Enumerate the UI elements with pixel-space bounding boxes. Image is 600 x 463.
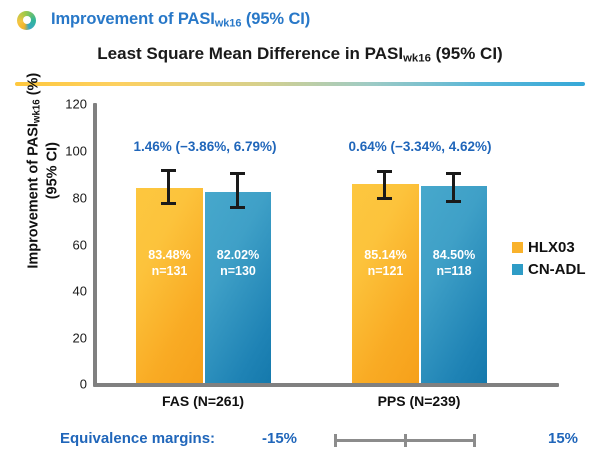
y-axis-label-line1: Improvement of PASIwk16 (%) — [24, 31, 43, 311]
chart-legend: HLX03 CN-ADL — [512, 236, 586, 280]
error-bar-cap-top-pps-cnadl — [446, 172, 461, 175]
bar-pps-hlx03[interactable]: 85.14% n=121 — [352, 184, 419, 383]
legend-swatch-hlx03 — [512, 242, 523, 253]
x-label-pps: PPS (N=239) — [339, 393, 499, 409]
y-tick-0: 0 — [49, 377, 87, 392]
bar-label-pps-cnadl: 84.50% n=118 — [421, 247, 487, 280]
equivalence-tick-center — [404, 434, 407, 447]
y-tick-20: 20 — [49, 331, 87, 346]
bar-label-pps-hlx03: 85.14% n=121 — [352, 247, 419, 280]
bar-pps-cnadl[interactable]: 84.50% n=118 — [421, 186, 487, 383]
error-bar-cap-top-pps-hlx03 — [377, 170, 392, 173]
error-bar-pps-hlx03 — [383, 170, 386, 200]
bar-fas-cnadl[interactable]: 82.02% n=130 — [205, 192, 271, 383]
annotation-pps: 0.64% (−3.34%, 4.62%) — [325, 139, 515, 154]
x-label-fas: FAS (N=261) — [123, 393, 283, 409]
y-axis-label-suffix: (%) — [25, 73, 41, 100]
bar-n-pps-hlx03: n=121 — [352, 263, 419, 279]
bar-chart: 120 100 80 60 40 20 0 Improvement of PAS… — [0, 0, 600, 463]
bar-value-fas-cnadl: 82.02% — [205, 247, 271, 263]
equivalence-margins-label: Equivalence margins: — [60, 430, 215, 447]
error-bar-fas-hlx03 — [167, 169, 170, 205]
y-axis-line — [93, 103, 97, 385]
bar-label-fas-cnadl: 82.02% n=130 — [205, 247, 271, 280]
error-bar-cap-bottom-fas-hlx03 — [161, 202, 176, 205]
bar-label-fas-hlx03: 83.48% n=131 — [136, 247, 203, 280]
y-axis-label-prefix: Improvement of PASI — [25, 123, 41, 269]
annotation-fas: 1.46% (−3.86%, 6.79%) — [110, 139, 300, 154]
equivalence-tick-left — [334, 434, 337, 447]
x-axis-line — [93, 383, 559, 387]
equivalence-tick-right — [473, 434, 476, 447]
error-bar-cap-bottom-pps-cnadl — [446, 200, 461, 203]
bar-value-pps-hlx03: 85.14% — [352, 247, 419, 263]
bar-value-pps-cnadl: 84.50% — [421, 247, 487, 263]
error-bar-fas-cnadl — [236, 172, 239, 209]
y-axis-label-subscript: wk16 — [31, 99, 42, 123]
equivalence-upper-value: 15% — [548, 430, 578, 447]
error-bar-cap-top-fas-hlx03 — [161, 169, 176, 172]
y-axis-label-line2: (95% CI) — [44, 31, 62, 311]
bar-fas-hlx03[interactable]: 83.48% n=131 — [136, 188, 203, 383]
bar-n-fas-hlx03: n=131 — [136, 263, 203, 279]
legend-label-hlx03: HLX03 — [528, 239, 575, 256]
bar-value-fas-hlx03: 83.48% — [136, 247, 203, 263]
legend-item-hlx03[interactable]: HLX03 — [512, 236, 586, 258]
legend-swatch-cnadl — [512, 264, 523, 275]
error-bar-pps-cnadl — [452, 172, 455, 203]
legend-label-cnadl: CN-ADL — [528, 261, 586, 278]
legend-item-cnadl[interactable]: CN-ADL — [512, 258, 586, 280]
bar-n-fas-cnadl: n=130 — [205, 263, 271, 279]
y-axis-label: Improvement of PASIwk16 (%) (95% CI) — [24, 31, 61, 311]
error-bar-cap-bottom-pps-hlx03 — [377, 197, 392, 200]
error-bar-cap-top-fas-cnadl — [230, 172, 245, 175]
equivalence-lower-value: -15% — [262, 430, 297, 447]
bar-n-pps-cnadl: n=118 — [421, 263, 487, 279]
error-bar-cap-bottom-fas-cnadl — [230, 206, 245, 209]
